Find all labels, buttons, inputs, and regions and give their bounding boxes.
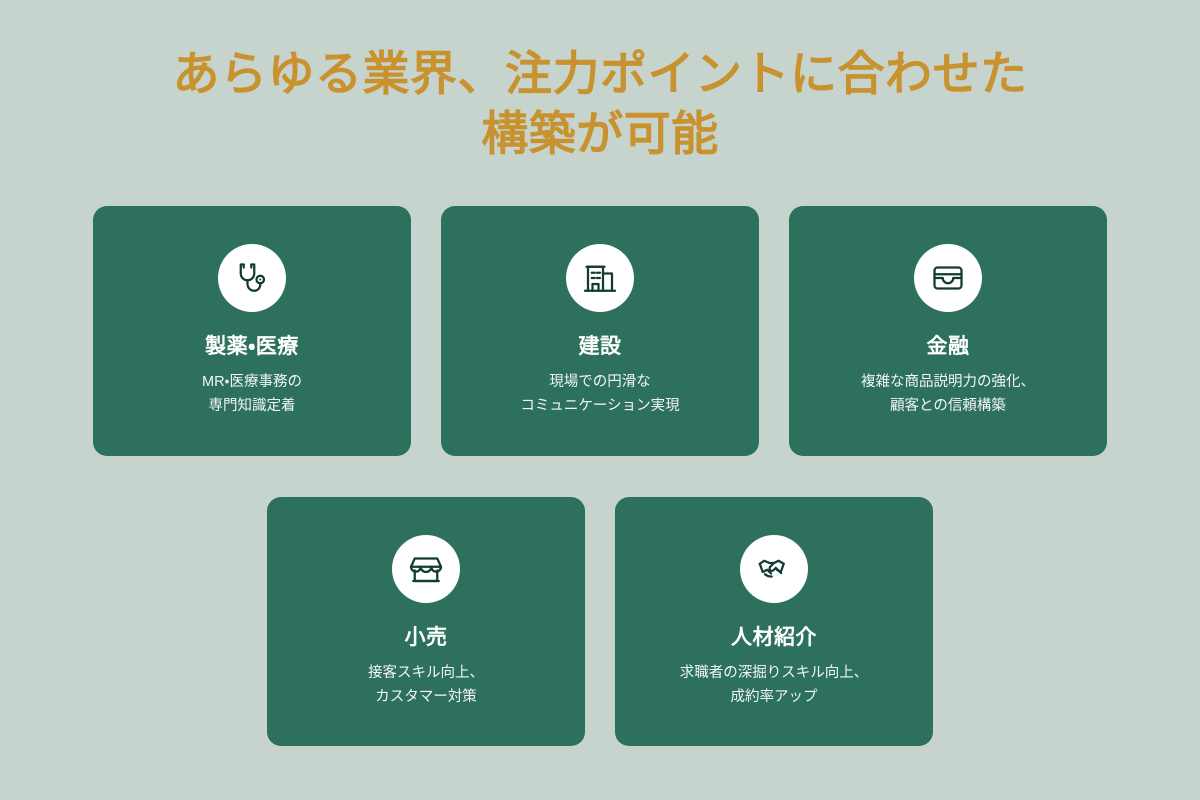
page-title: あらゆる業界、注力ポイントに合わせた 構築が可能	[0, 44, 1200, 164]
card-title: 製薬・医療	[205, 334, 299, 359]
card-description: 複雑な商品説明力の強化、 顧客との信頼構築	[861, 371, 1035, 418]
card-row-bottom: 小売 接客スキル向上、 カスタマー対策 人材紹介 求職者の深掘りスキル向上、 成…	[0, 497, 1200, 746]
handshake-icon	[756, 551, 792, 587]
icon-badge	[914, 244, 982, 312]
card-description: 求職者の深掘りスキル向上、 成約率アップ	[680, 662, 869, 709]
industry-card-finance[interactable]: 金融 複雑な商品説明力の強化、 顧客との信頼構築	[789, 206, 1107, 456]
building-icon	[582, 260, 618, 296]
card-row-top: 製薬・医療 MR・医療事務の 専門知識定着	[0, 206, 1200, 456]
card-description: MR・医療事務の 専門知識定着	[202, 371, 302, 418]
industry-card-retail[interactable]: 小売 接客スキル向上、 カスタマー対策	[267, 497, 585, 746]
card-description: 現場での円滑な コミュニケーション実現	[520, 371, 679, 418]
card-title: 人材紹介	[731, 625, 817, 650]
icon-badge	[566, 244, 634, 312]
icon-badge	[392, 535, 460, 603]
card-description: 接客スキル向上、 カスタマー対策	[368, 662, 484, 709]
industry-card-recruitment[interactable]: 人材紹介 求職者の深掘りスキル向上、 成約率アップ	[615, 497, 933, 746]
storefront-icon	[408, 551, 444, 587]
wallet-icon	[930, 260, 966, 296]
card-title: 建設	[579, 334, 622, 359]
icon-badge	[218, 244, 286, 312]
card-title: 金融	[927, 334, 970, 359]
slide-root: あらゆる業界、注力ポイントに合わせた 構築が可能 製薬・医療 MR・医療事務	[0, 0, 1200, 800]
card-title: 小売	[405, 625, 448, 650]
industry-card-construction[interactable]: 建設 現場での円滑な コミュニケーション実現	[441, 206, 759, 456]
stethoscope-icon	[234, 260, 270, 296]
industry-card-pharma-medical[interactable]: 製薬・医療 MR・医療事務の 専門知識定着	[93, 206, 411, 456]
icon-badge	[740, 535, 808, 603]
